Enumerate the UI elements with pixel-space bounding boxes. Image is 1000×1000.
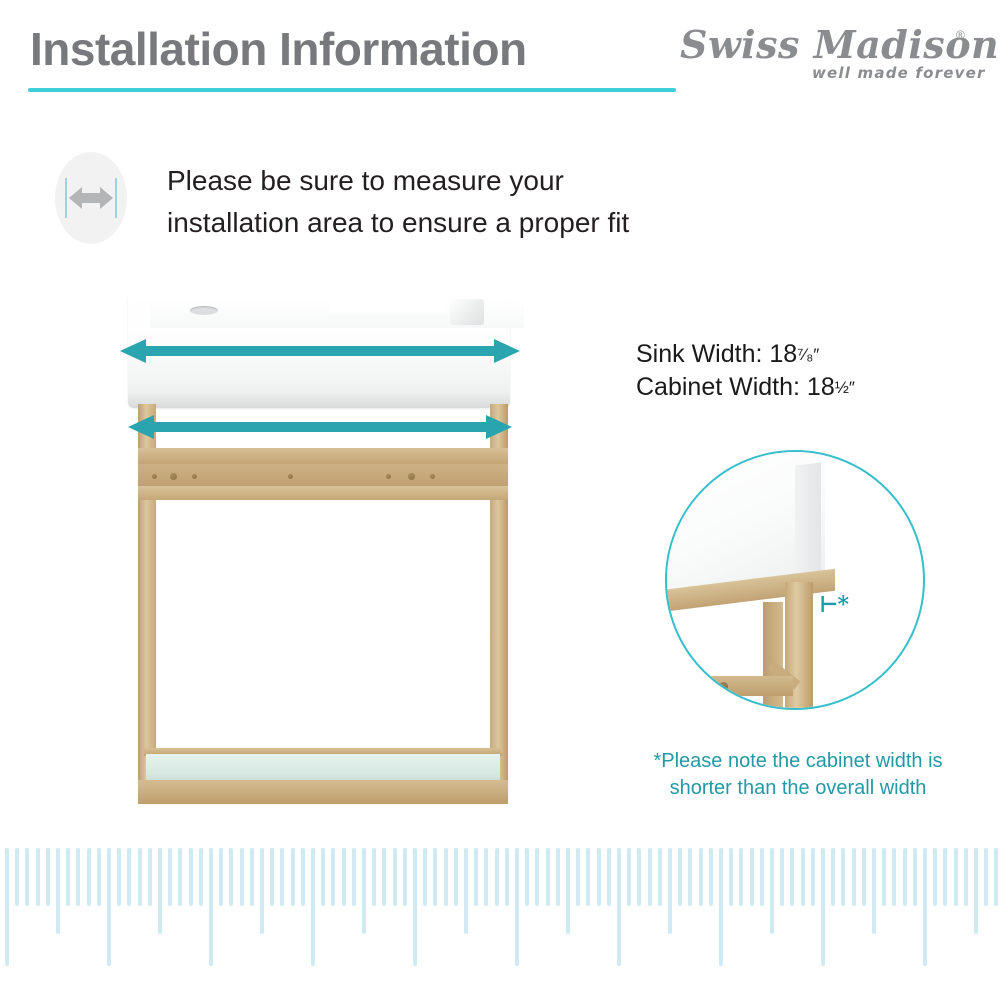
measure-note-text: Please be sure to measure your installat… xyxy=(167,160,767,244)
ruler-tick xyxy=(515,848,519,966)
screw-hole xyxy=(408,473,415,480)
ruler-tick xyxy=(556,848,560,906)
ruler-tick xyxy=(219,848,223,906)
double-arrow-horizontal-icon xyxy=(63,174,119,222)
ruler-tick xyxy=(107,848,111,966)
ruler-tick xyxy=(5,848,9,966)
ruler-tick xyxy=(382,848,386,906)
ruler-tick xyxy=(984,848,988,906)
ruler-tick xyxy=(189,848,193,906)
ruler-tick xyxy=(372,848,376,906)
product-illustration xyxy=(110,280,530,820)
ruler-tick xyxy=(739,848,743,906)
ruler-tick xyxy=(811,848,815,906)
sink-width-dimension-arrow xyxy=(120,336,520,366)
frame-base-rail xyxy=(138,780,508,804)
ruler-tick xyxy=(260,848,264,934)
ruler-tick xyxy=(87,848,91,906)
ruler-tick xyxy=(301,848,305,906)
ruler-tick xyxy=(97,848,101,906)
ruler-tick xyxy=(138,848,142,906)
ruler-tick xyxy=(280,848,284,906)
ruler-tick xyxy=(148,848,152,906)
ruler-tick xyxy=(954,848,958,906)
ruler-tick xyxy=(699,848,703,906)
ruler-tick xyxy=(678,848,682,906)
screw-hole xyxy=(386,474,391,479)
spec-list: Sink Width: 18⁷⁄₈″ Cabinet Width: 18½″ xyxy=(636,338,966,404)
ruler-tick xyxy=(882,848,886,906)
detail-frame-foot xyxy=(701,676,793,696)
ruler-tick xyxy=(321,848,325,906)
registered-trademark-icon: ® xyxy=(956,28,965,42)
ruler-tick xyxy=(617,848,621,966)
ruler-tick xyxy=(974,848,978,934)
sink-width-label: Sink Width: xyxy=(636,340,762,368)
ruler-tick xyxy=(76,848,80,906)
footnote-line1: *Please note the cabinet width is xyxy=(618,748,978,775)
ruler-tick xyxy=(994,848,998,906)
ruler-tick xyxy=(831,848,835,906)
ruler-tick xyxy=(444,848,448,906)
sink-shadow xyxy=(128,392,510,408)
cabinet-width-value: 18 xyxy=(807,373,835,401)
ruler-tick xyxy=(688,848,692,906)
ruler-tick xyxy=(780,848,784,906)
ruler-tick xyxy=(903,848,907,906)
ruler-tick xyxy=(168,848,172,906)
ruler-tick xyxy=(495,848,499,906)
cabinet-width-spec: Cabinet Width: 18½″ xyxy=(636,371,966,404)
ruler-tick xyxy=(158,848,162,934)
ruler-tick xyxy=(821,848,825,966)
ruler-tick xyxy=(923,848,927,966)
footnote: *Please note the cabinet width is shorte… xyxy=(618,748,978,802)
ruler-tick xyxy=(770,848,774,934)
ruler-tick xyxy=(841,848,845,906)
ruler-tick xyxy=(801,848,805,906)
ruler-tick xyxy=(964,848,968,906)
ruler-tick xyxy=(199,848,203,906)
frame-rail-screws xyxy=(138,464,508,486)
cabinet-width-label: Cabinet Width: xyxy=(636,373,800,401)
ruler-tick xyxy=(342,848,346,906)
sink-width-value: 18 xyxy=(769,340,797,368)
ruler-tick xyxy=(270,848,274,906)
ruler-tick xyxy=(331,848,335,906)
ruler-tick xyxy=(403,848,407,906)
basin-corner xyxy=(450,299,484,325)
sink-width-spec: Sink Width: 18⁷⁄₈″ xyxy=(636,338,966,371)
ruler-tick xyxy=(454,848,458,906)
page-header: Installation Information Swiss Madison ®… xyxy=(0,0,1000,110)
screw-hole xyxy=(192,474,197,479)
ruler-tick xyxy=(648,848,652,906)
ruler-tick xyxy=(352,848,356,906)
ruler-tick xyxy=(586,848,590,906)
ruler-tick xyxy=(413,848,417,966)
brand-tagline: well made forever xyxy=(812,64,986,82)
ruler-tick xyxy=(566,848,570,934)
ruler-tick xyxy=(178,848,182,906)
ruler-tick xyxy=(484,848,488,906)
screw-hole xyxy=(170,473,177,480)
screw-hole xyxy=(430,474,435,479)
faucet-hole xyxy=(190,306,218,315)
cabinet-width-dimension-arrow xyxy=(128,412,512,442)
ruler-tick xyxy=(719,848,723,966)
cabinet-width-fraction: ½″ xyxy=(835,378,855,397)
ruler-tick xyxy=(627,848,631,906)
ruler-tick xyxy=(291,848,295,906)
ruler-tick xyxy=(862,848,866,906)
ruler-tick xyxy=(66,848,70,906)
ruler-tick xyxy=(25,848,29,906)
measure-note-line1: Please be sure to measure your xyxy=(167,160,767,202)
ruler-tick xyxy=(127,848,131,906)
footnote-line2: shorter than the overall width xyxy=(618,775,978,802)
ruler-tick xyxy=(362,848,366,934)
ruler-tick xyxy=(311,848,315,966)
ruler-tick xyxy=(852,848,856,906)
ruler-tick xyxy=(46,848,50,906)
ruler-tick xyxy=(943,848,947,906)
ruler-tick xyxy=(250,848,254,906)
ruler-decoration xyxy=(0,848,1000,968)
width-difference-marker: ⊢* xyxy=(819,592,848,618)
ruler-tick xyxy=(750,848,754,906)
ruler-tick xyxy=(637,848,641,906)
ruler-tick xyxy=(597,848,601,906)
ruler-tick xyxy=(229,848,233,906)
ruler-tick xyxy=(209,848,213,966)
frame-rail-top xyxy=(138,448,508,464)
ruler-tick xyxy=(474,848,478,906)
measure-note: Please be sure to measure your installat… xyxy=(55,152,755,257)
ruler-tick xyxy=(607,848,611,906)
ruler-tick xyxy=(729,848,733,906)
ruler-tick xyxy=(535,848,539,906)
screw-hole xyxy=(152,474,157,479)
sink-width-fraction: ⁷⁄₈″ xyxy=(797,345,819,364)
brand-logo: Swiss Madison ® well made forever xyxy=(680,22,980,92)
ruler-tick xyxy=(790,848,794,906)
ruler-tick xyxy=(658,848,662,906)
ruler-tick xyxy=(433,848,437,906)
ruler-tick xyxy=(668,848,672,934)
sink-deck-highlight xyxy=(328,301,448,313)
ruler-tick xyxy=(36,848,40,906)
ruler-tick xyxy=(464,848,468,934)
ruler-tick xyxy=(15,848,19,906)
ruler-tick xyxy=(576,848,580,906)
ruler-tick xyxy=(933,848,937,906)
screw-hole xyxy=(288,474,293,479)
ruler-tick xyxy=(117,848,121,906)
ruler-tick xyxy=(240,848,244,906)
title-underline xyxy=(28,88,676,92)
ruler-tick xyxy=(525,848,529,906)
ruler-tick xyxy=(872,848,876,934)
ruler-tick xyxy=(892,848,896,906)
ruler-tick xyxy=(56,848,60,934)
ruler-tick xyxy=(423,848,427,906)
frame-rail-bottom xyxy=(138,486,508,500)
ruler-tick xyxy=(913,848,917,906)
glass-shelf xyxy=(146,754,500,782)
ruler-tick xyxy=(709,848,713,906)
page-title: Installation Information xyxy=(30,22,527,76)
corner-detail-callout: ⊢* xyxy=(665,450,925,710)
ruler-tick xyxy=(546,848,550,906)
ruler-tick xyxy=(505,848,509,906)
ruler-tick xyxy=(760,848,764,906)
ruler-tick xyxy=(393,848,397,906)
measure-note-line2: installation area to ensure a proper fit xyxy=(167,202,767,244)
brand-name: Swiss Madison xyxy=(680,22,980,67)
detail-screw-hole xyxy=(719,682,728,691)
